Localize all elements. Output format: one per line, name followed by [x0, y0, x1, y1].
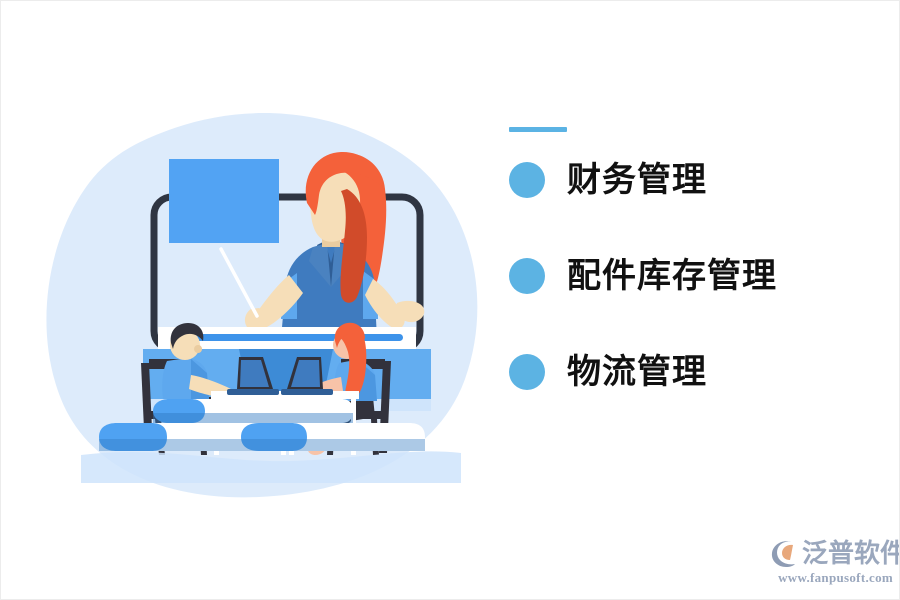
feature-label: 财务管理	[567, 163, 707, 197]
bullet-icon	[509, 258, 545, 294]
bullet-icon	[509, 354, 545, 390]
watermark-brand-text: 泛普软件	[802, 540, 900, 566]
page-root: 财务管理 配件库存管理 物流管理 泛普软件 www.fanpusoft.com	[0, 0, 900, 600]
feature-list: 财务管理 配件库存管理 物流管理	[509, 132, 869, 420]
watermark-url-text: www.fanpusoft.com	[769, 570, 893, 586]
feature-item-logistics[interactable]: 物流管理	[509, 324, 869, 420]
watermark-logo: 泛普软件 www.fanpusoft.com	[769, 537, 893, 591]
feature-label: 物流管理	[567, 355, 707, 389]
feature-item-finance[interactable]: 财务管理	[509, 132, 869, 228]
presentation-board	[169, 159, 279, 243]
student-left-ear	[194, 345, 202, 353]
feature-label: 配件库存管理	[567, 259, 777, 293]
feature-item-parts-inventory[interactable]: 配件库存管理	[509, 228, 869, 324]
feature-panel: 财务管理 配件库存管理 物流管理	[509, 127, 869, 457]
watermark-brand-row: 泛普软件	[769, 537, 893, 569]
fanpu-logo-icon	[769, 538, 799, 568]
bullet-icon	[509, 162, 545, 198]
online-classroom-illustration	[41, 111, 491, 501]
